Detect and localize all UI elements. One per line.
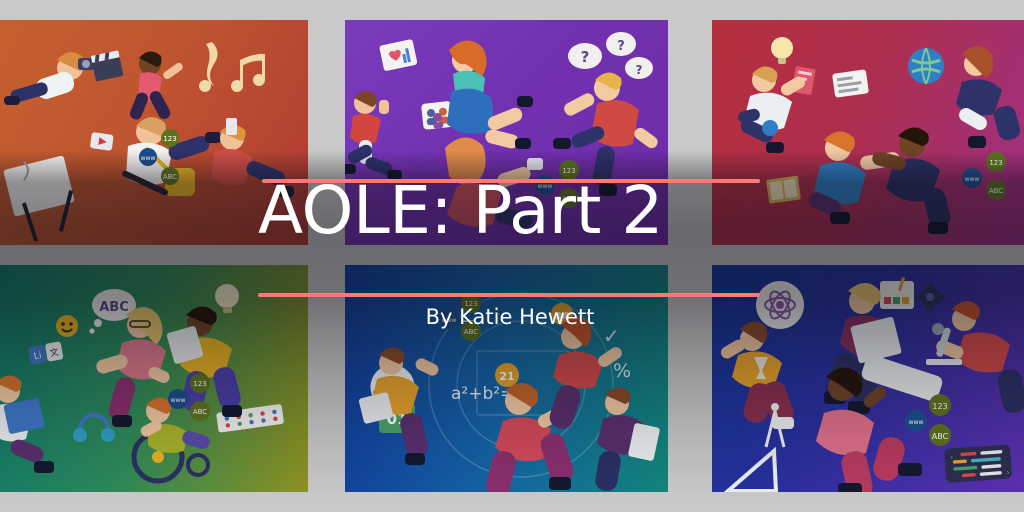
accent-rule-bottom: [258, 293, 760, 297]
page-title: AOLE: Part 2: [258, 178, 778, 244]
page-subtitle: By Katie Hewett: [258, 305, 762, 329]
presentation-slide: 123 ABC www: [0, 0, 1024, 512]
title-block: AOLE: Part 2 By Katie Hewett: [0, 0, 1024, 512]
